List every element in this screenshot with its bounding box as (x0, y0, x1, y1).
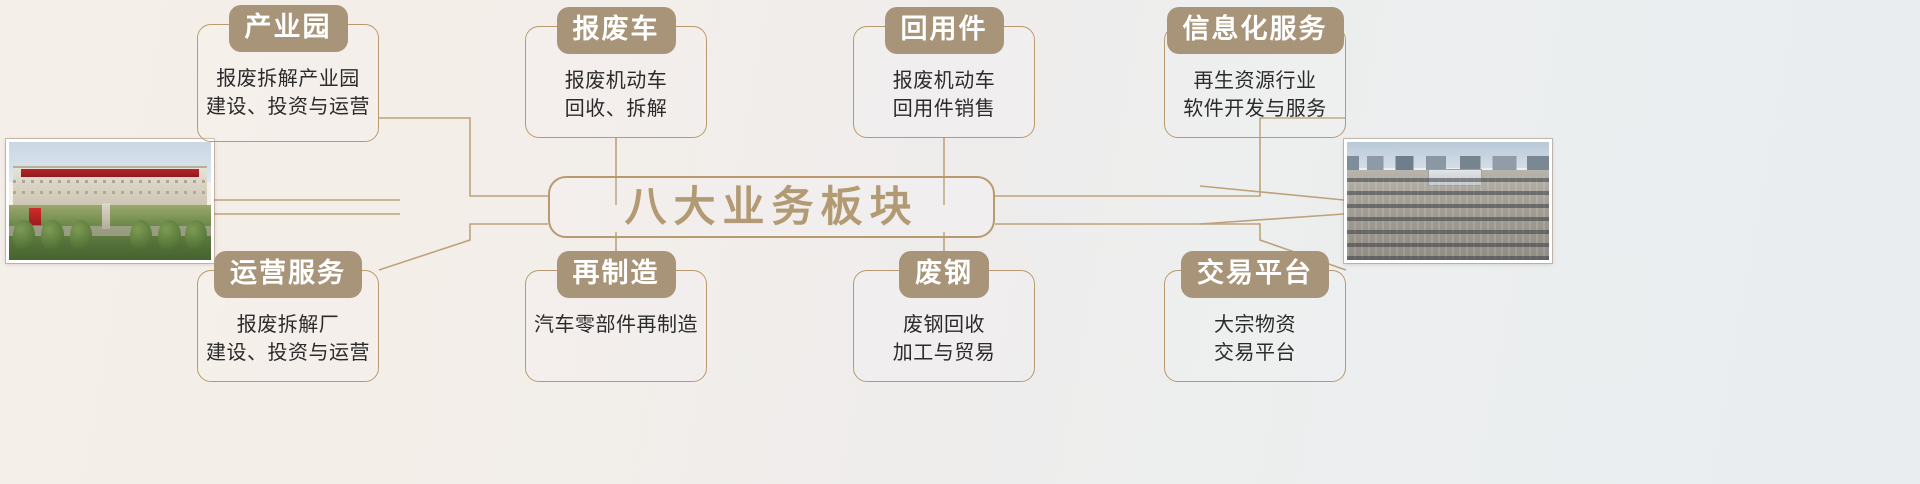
segment-title-trading-platform: 交易平台 (1181, 251, 1329, 298)
segment-card-operation-service[interactable]: 运营服务 报废拆解厂 建设、投资与运营 (197, 270, 379, 382)
segment-desc-remanufacturing: 汽车零部件再制造 (534, 311, 698, 339)
segment-desc-scrap-vehicle: 报废机动车 回收、拆解 (565, 67, 668, 124)
segment-desc-trading-platform: 大宗物资 交易平台 (1214, 311, 1296, 368)
segment-card-scrap-steel[interactable]: 废钢 废钢回收 加工与贸易 (853, 270, 1035, 382)
segment-card-trading-platform[interactable]: 交易平台 大宗物资 交易平台 (1164, 270, 1346, 382)
center-node: 八大业务板块 (548, 176, 995, 238)
segment-card-industrial-park[interactable]: 产业园 报废拆解产业园 建设、投资与运营 (197, 24, 379, 142)
segment-title-operation-service: 运营服务 (214, 251, 362, 298)
segment-card-scrap-vehicle[interactable]: 报废车 报废机动车 回收、拆解 (525, 26, 707, 138)
campus-photo (6, 139, 214, 263)
segment-desc-information-service: 再生资源行业 软件开发与服务 (1183, 67, 1327, 124)
segment-card-reusable-parts[interactable]: 回用件 报废机动车 回用件销售 (853, 26, 1035, 138)
segment-desc-operation-service: 报废拆解厂 建设、投资与运营 (206, 311, 370, 368)
segment-card-information-service[interactable]: 信息化服务 再生资源行业 软件开发与服务 (1164, 26, 1346, 138)
segment-title-information-service: 信息化服务 (1167, 7, 1344, 54)
segment-desc-industrial-park: 报废拆解产业园 建设、投资与运营 (206, 65, 370, 122)
segment-title-reusable-parts: 回用件 (885, 7, 1004, 54)
center-node-title: 八大业务板块 (624, 186, 918, 228)
yard-photo (1344, 139, 1552, 263)
business-segments-diagram: 八大业务板块 产业园 报废拆解产业园 建设、投资与运营 报废车 报废机动车 回收… (0, 0, 1920, 484)
segment-desc-scrap-steel: 废钢回收 加工与贸易 (893, 311, 996, 368)
segment-title-scrap-steel: 废钢 (899, 251, 989, 298)
segment-desc-reusable-parts: 报废机动车 回用件销售 (893, 67, 996, 124)
segment-title-industrial-park: 产业园 (229, 5, 348, 52)
segment-title-remanufacturing: 再制造 (557, 251, 676, 298)
segment-title-scrap-vehicle: 报废车 (557, 7, 676, 54)
segment-card-remanufacturing[interactable]: 再制造 汽车零部件再制造 (525, 270, 707, 382)
